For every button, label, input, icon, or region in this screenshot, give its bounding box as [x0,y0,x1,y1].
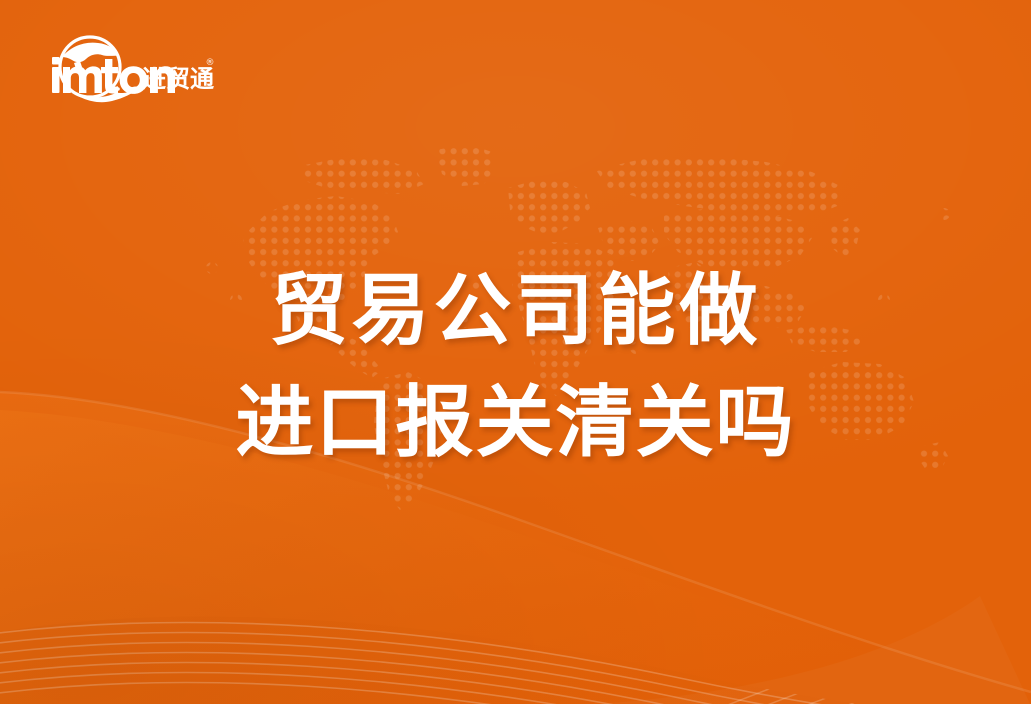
trademark-symbol: ® [206,58,215,68]
logo-chinese-text: 进贸通 [142,65,214,93]
brand-logo[interactable]: 进贸通 ® [44,27,216,107]
globe-logo-icon: 进贸通 ® [44,27,216,107]
poster-canvas: 进贸通 ® 贸易公司能做 进口报关清关吗 [0,0,1031,704]
